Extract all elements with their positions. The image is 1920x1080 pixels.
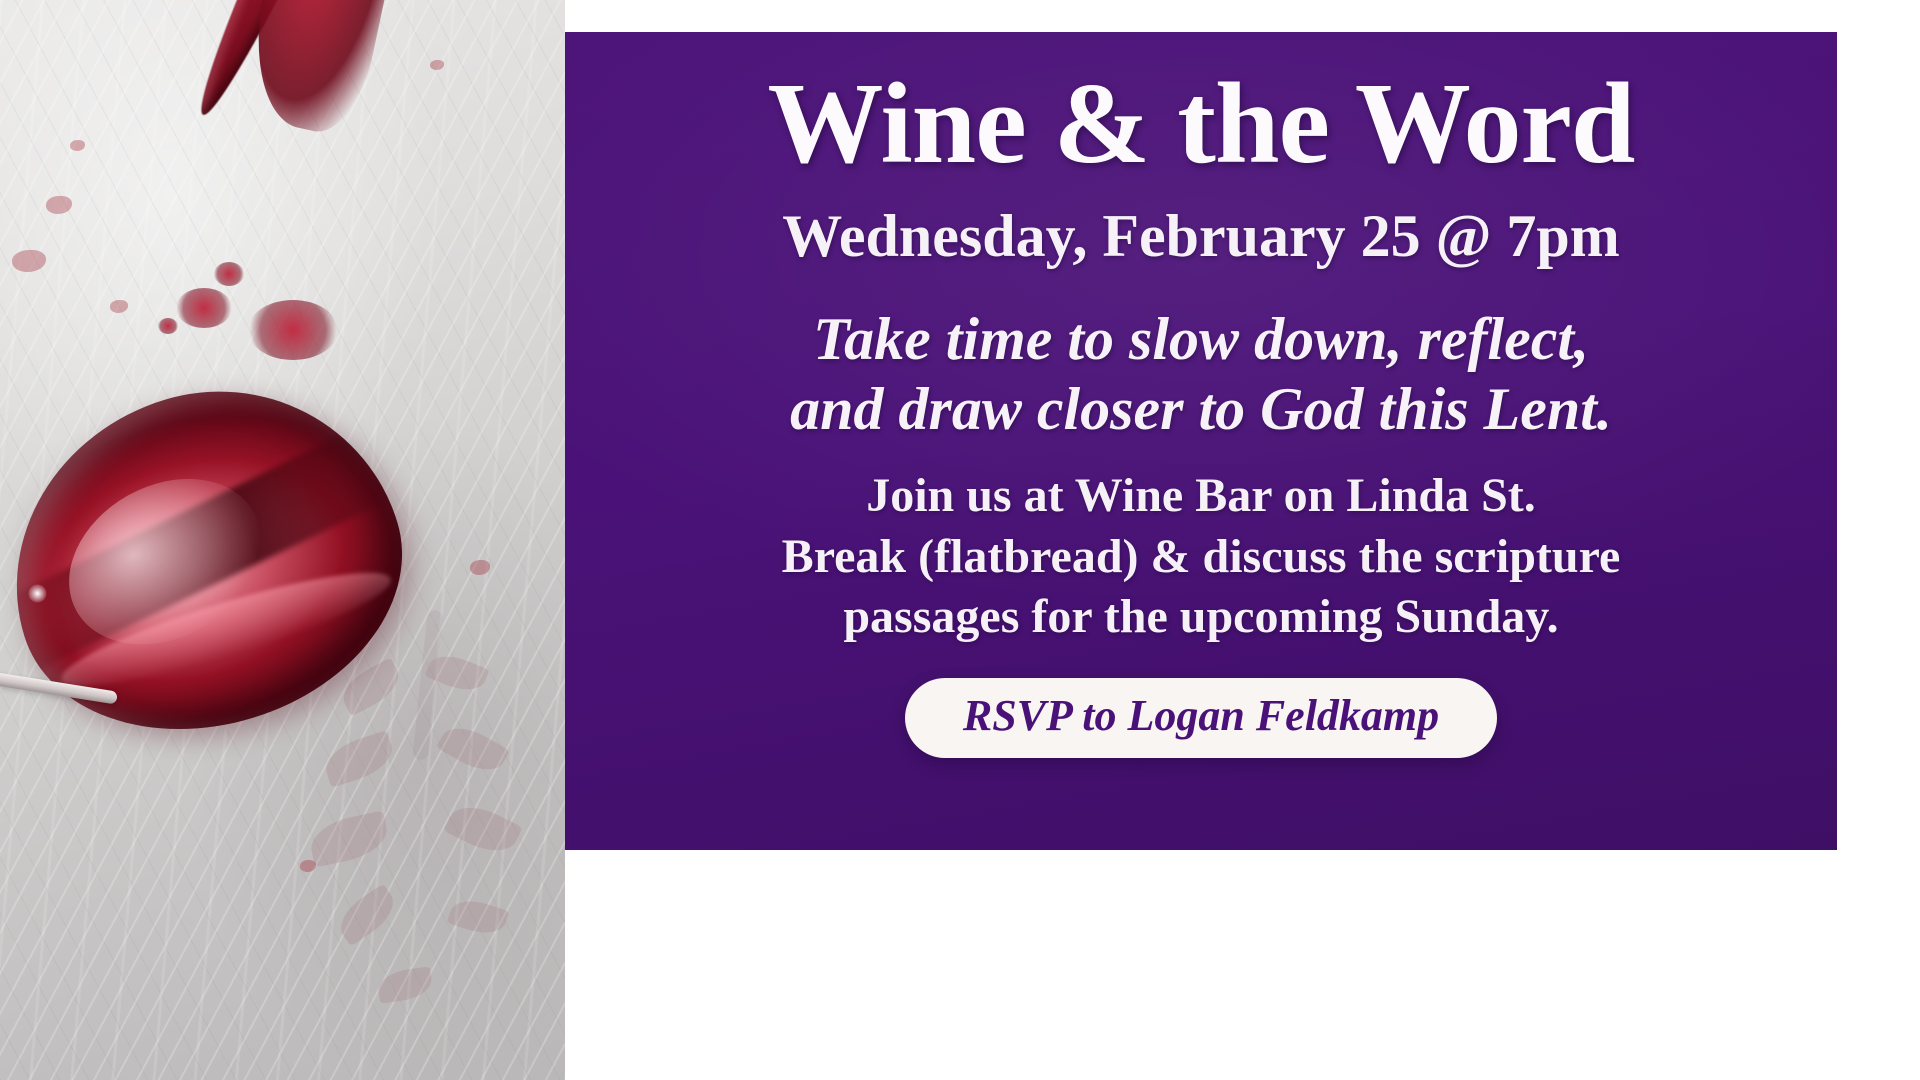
event-details: Join us at Wine Bar on Linda St. Break (… [782,466,1621,647]
detail-line-activity-cont: passages for the upcoming Sunday. [782,587,1621,647]
wine-splash-droplet [176,288,232,328]
wine-photo [0,0,565,1080]
page-title: Wine & the Word [768,64,1635,185]
detail-line-activity: Break (flatbread) & discuss the scriptur… [782,527,1621,587]
detail-line-location: Join us at Wine Bar on Linda St. [782,466,1621,526]
wine-splash-droplet [158,318,178,334]
wine-splash-droplet [214,262,244,286]
event-date-time: Wednesday, February 25 @ 7pm [782,203,1620,270]
event-tagline: Take time to slow down, reflect, and dra… [790,304,1612,444]
purple-content-panel: Wine & the Word Wednesday, February 25 @… [565,32,1837,850]
rsvp-button[interactable]: RSVP to Logan Feldkamp [905,678,1497,758]
tagline-line-2: and draw closer to God this Lent. [790,374,1612,444]
event-flyer: Wine & the Word Wednesday, February 25 @… [0,0,1920,1080]
tagline-line-1: Take time to slow down, reflect, [790,304,1612,374]
